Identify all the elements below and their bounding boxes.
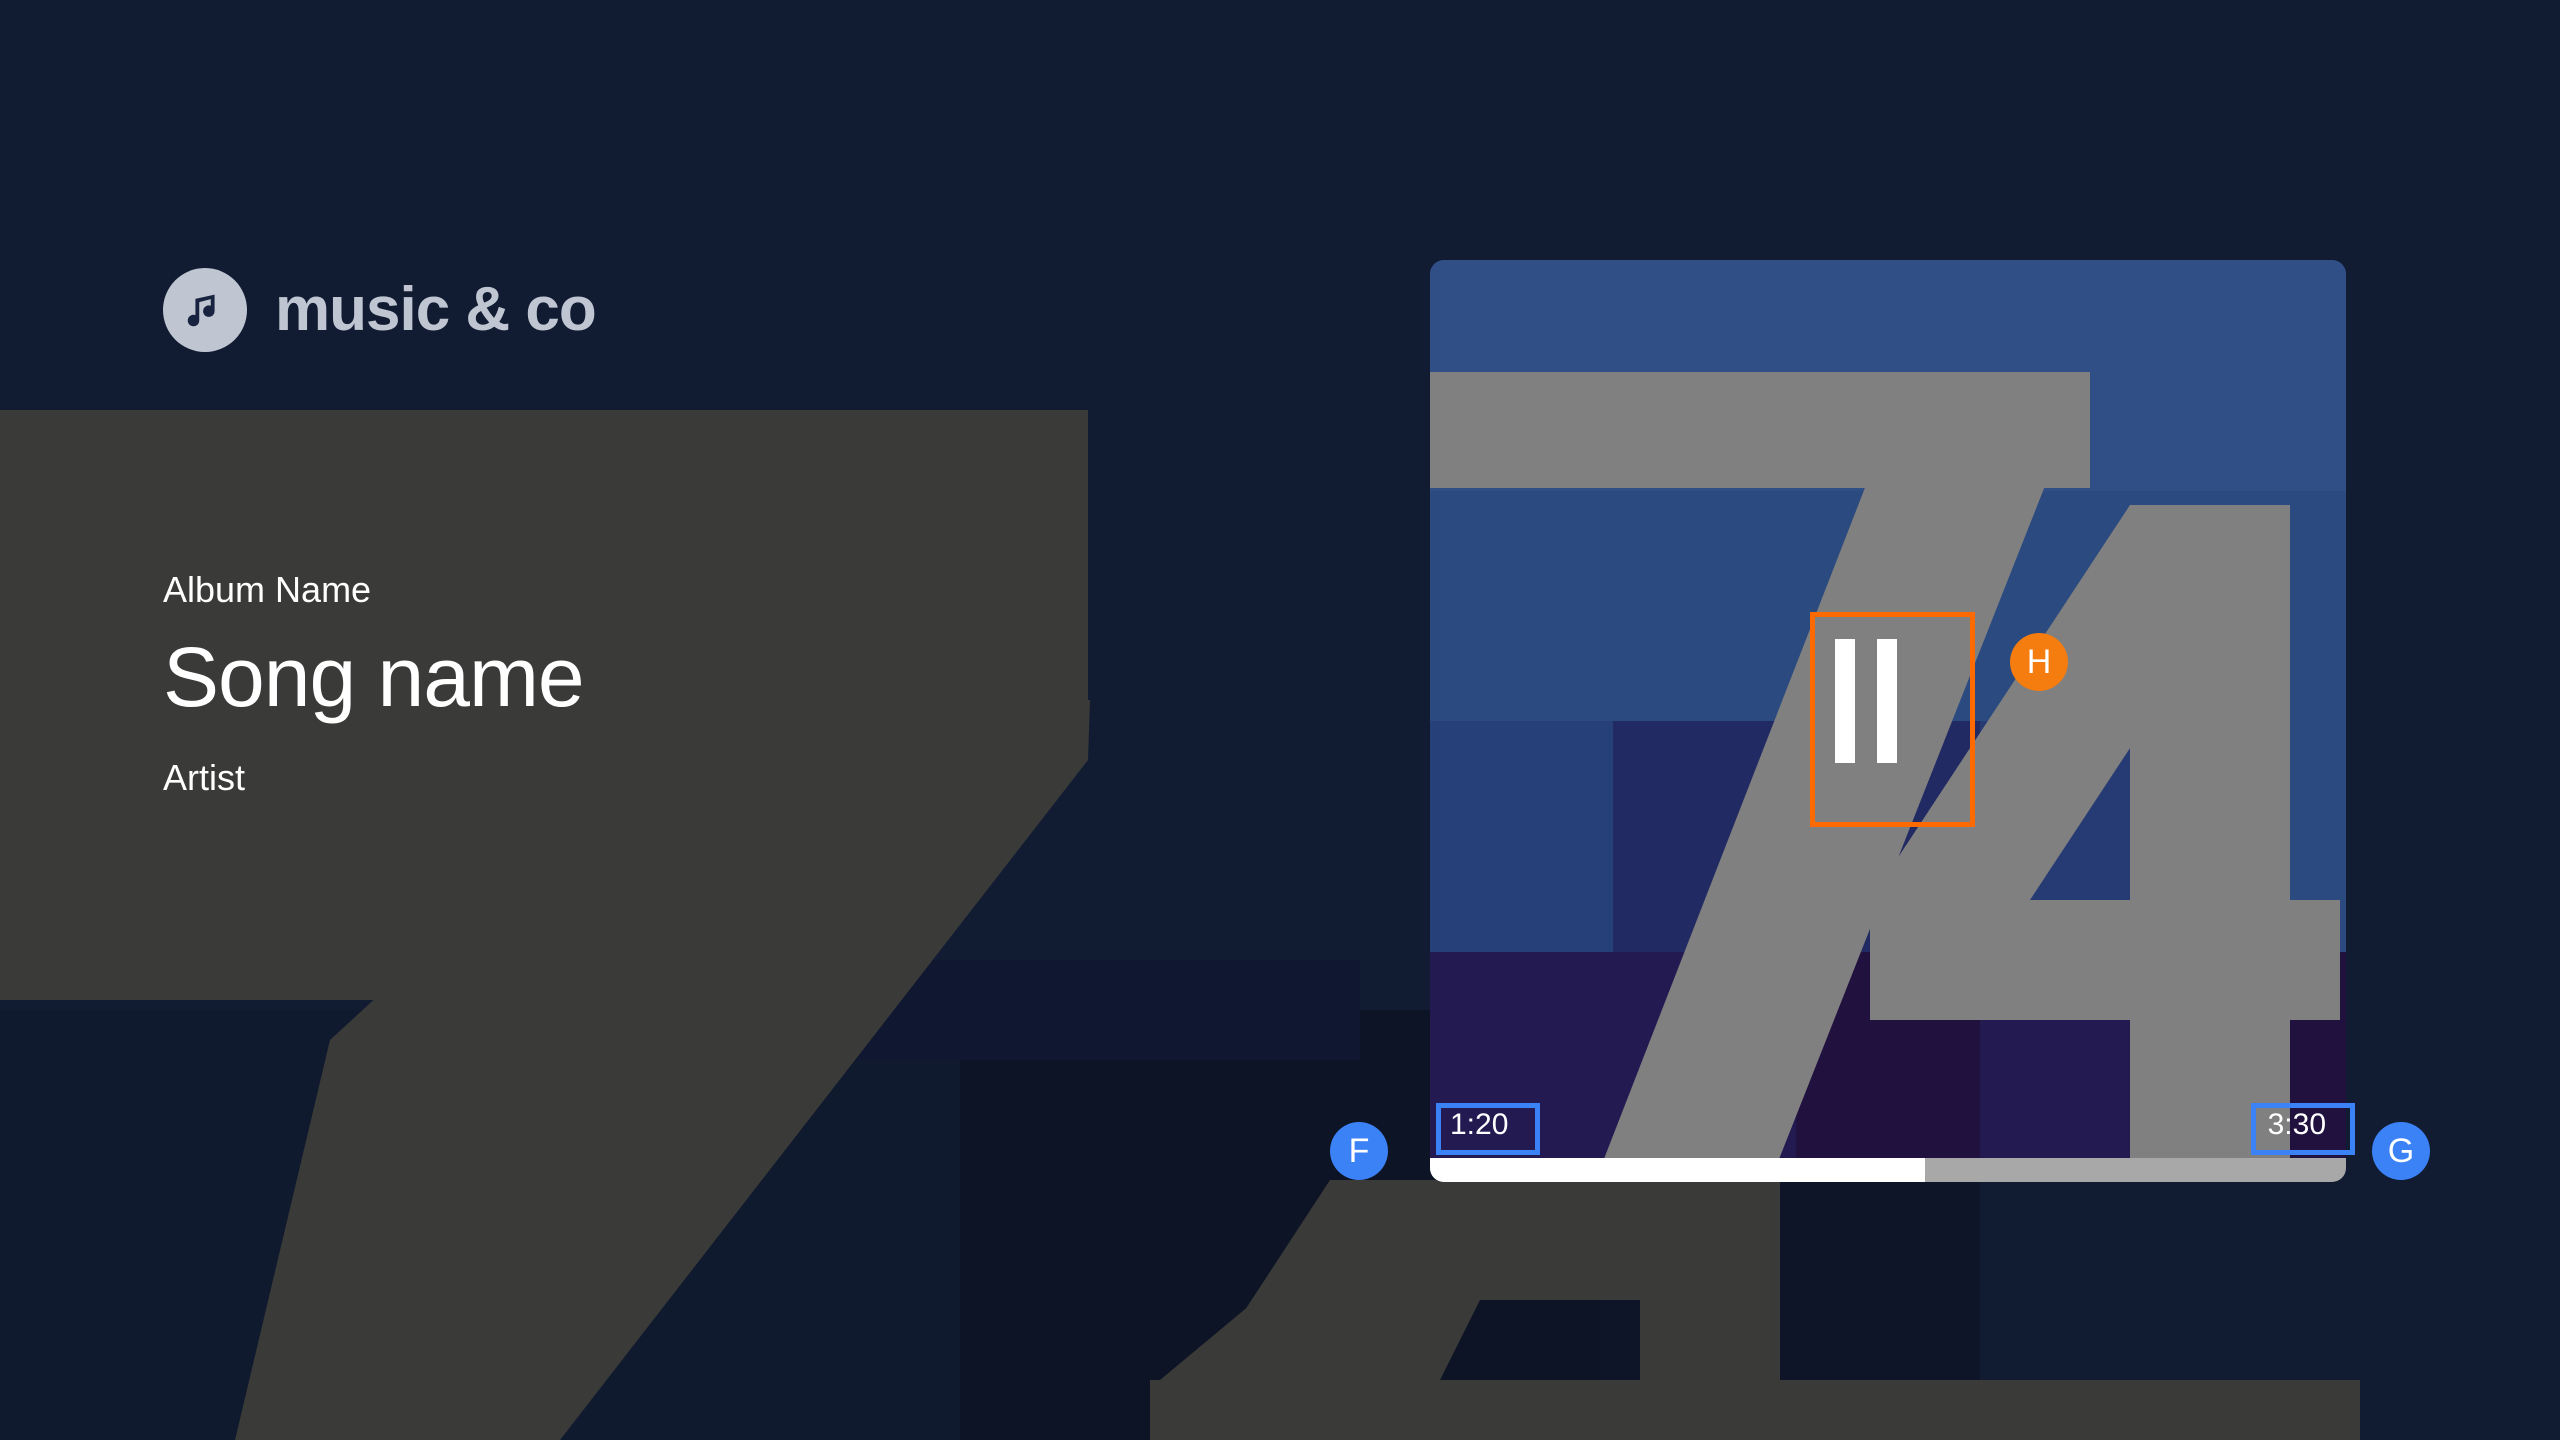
pause-bar-right xyxy=(1877,639,1897,763)
progress-bar-fill xyxy=(1430,1158,1925,1182)
annotation-marker-h: H xyxy=(2010,633,2068,691)
music-note-icon xyxy=(163,268,247,352)
album-art-card[interactable]: great sounds. 1:20 3:30 xyxy=(1430,260,2346,1182)
total-time-label: 3:30 xyxy=(2268,1110,2326,1140)
pause-button[interactable] xyxy=(1816,636,1916,766)
album-name-label: Album Name xyxy=(163,568,584,611)
now-playing-info: Album Name Song name Artist xyxy=(163,568,584,799)
pause-bar-left xyxy=(1835,639,1855,763)
brand-name: music & co xyxy=(275,279,596,341)
annotation-marker-f: F xyxy=(1330,1122,1388,1180)
brand-logo[interactable]: music & co xyxy=(163,268,596,352)
current-time-label: 1:20 xyxy=(1450,1110,1508,1140)
song-title: Song name xyxy=(163,633,584,721)
annotation-marker-g: G xyxy=(2372,1122,2430,1180)
progress-bar[interactable] xyxy=(1430,1158,2346,1182)
artist-name-label: Artist xyxy=(163,757,584,799)
